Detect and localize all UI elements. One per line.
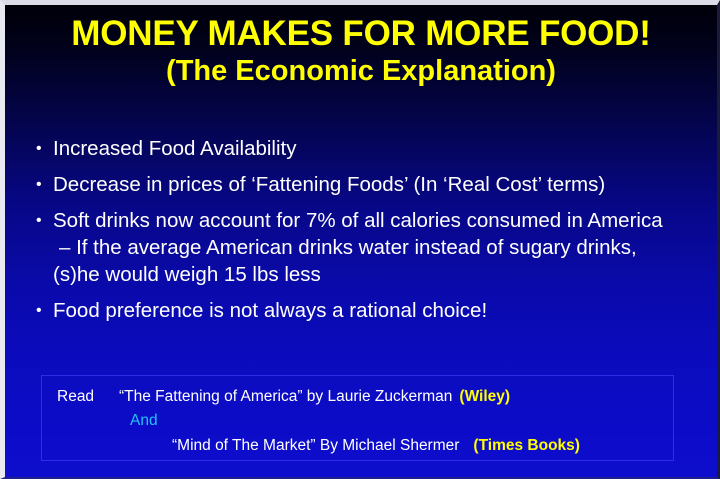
- bullet-text: Soft drinks now account for 7% of all ca…: [53, 207, 707, 234]
- book-one-publisher: (Wiley): [459, 388, 510, 405]
- reference-line-and: And: [130, 411, 158, 430]
- bullet-dot-icon: •: [31, 135, 53, 162]
- reference-line-first-book: Read“The Fattening of America” by Laurie…: [57, 387, 510, 406]
- bullet-list: • Increased Food Availability • Decrease…: [31, 135, 707, 333]
- list-item: • Decrease in prices of ‘Fattening Foods…: [31, 171, 707, 198]
- book-two-title: “Mind of The Market” By Michael Shermer: [172, 437, 459, 454]
- bullet-text: Increased Food Availability: [53, 135, 707, 162]
- and-connector: And: [130, 412, 158, 429]
- bullet-dot-icon: •: [31, 297, 53, 324]
- list-item: • Food preference is not always a ration…: [31, 297, 707, 324]
- list-item: • Soft drinks now account for 7% of all …: [31, 207, 707, 288]
- presentation-slide: MONEY MAKES FOR MORE FOOD! (The Economic…: [0, 0, 720, 479]
- bullet-text: Food preference is not always a rational…: [53, 297, 707, 324]
- reference-box: Read“The Fattening of America” by Laurie…: [41, 375, 674, 461]
- slide-title-subtitle: (The Economic Explanation): [5, 54, 717, 88]
- bullet-subline-continuation: (s)he would weigh 15 lbs less: [53, 261, 707, 288]
- slide-canvas: MONEY MAKES FOR MORE FOOD! (The Economic…: [5, 5, 717, 477]
- list-item: • Increased Food Availability: [31, 135, 707, 162]
- book-two-publisher: (Times Books): [473, 437, 580, 454]
- slide-title-block: MONEY MAKES FOR MORE FOOD! (The Economic…: [5, 14, 717, 88]
- book-one-title: “The Fattening of America” by Laurie Zuc…: [119, 388, 452, 405]
- bullet-text-group: Soft drinks now account for 7% of all ca…: [53, 207, 707, 288]
- reference-line-second-book: “Mind of The Market” By Michael Shermer(…: [172, 436, 580, 455]
- bullet-text: Decrease in prices of ‘Fattening Foods’ …: [53, 171, 707, 198]
- bullet-dot-icon: •: [31, 207, 53, 234]
- bullet-dot-icon: •: [31, 171, 53, 198]
- bullet-subline-dash: – If the average American drinks water i…: [53, 234, 707, 261]
- read-label: Read: [57, 387, 119, 406]
- slide-title-main: MONEY MAKES FOR MORE FOOD!: [5, 14, 717, 54]
